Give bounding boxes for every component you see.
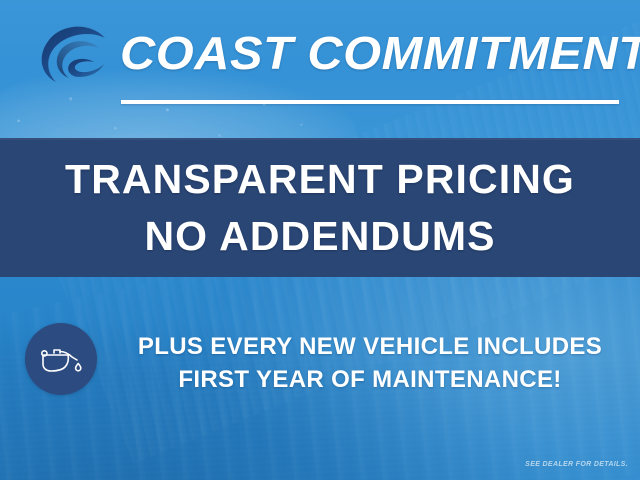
bonus-offer-row: PLUS EVERY NEW VEHICLE INCLUDES FIRST YE… <box>0 318 640 408</box>
header-divider <box>121 100 619 104</box>
claim-line-no-addendums: NO ADDENDUMS <box>144 208 495 265</box>
banner-header: COAST COMMITMENT <box>0 0 640 138</box>
bonus-offer-text: PLUS EVERY NEW VEHICLE INCLUDES FIRST YE… <box>112 318 628 408</box>
claim-band: TRANSPARENT PRICING NO ADDENDUMS <box>0 138 640 277</box>
oil-can-badge <box>25 323 97 395</box>
claim-line-transparent-pricing: TRANSPARENT PRICING <box>65 151 575 208</box>
disclaimer-text: SEE DEALER FOR DETAILS. <box>525 461 628 468</box>
bonus-line-plus-every-new-vehicle: PLUS EVERY NEW VEHICLE INCLUDES <box>138 330 602 363</box>
coast-commitment-banner: COAST COMMITMENT TRANSPARENT PRICING NO … <box>0 0 640 480</box>
bonus-line-first-year-maintenance: FIRST YEAR OF MAINTENANCE! <box>178 363 561 396</box>
page-title: COAST COMMITMENT <box>120 22 640 84</box>
oil-can-with-drop-icon <box>38 342 84 376</box>
coast-wave-swoosh-logo-icon <box>36 24 110 90</box>
